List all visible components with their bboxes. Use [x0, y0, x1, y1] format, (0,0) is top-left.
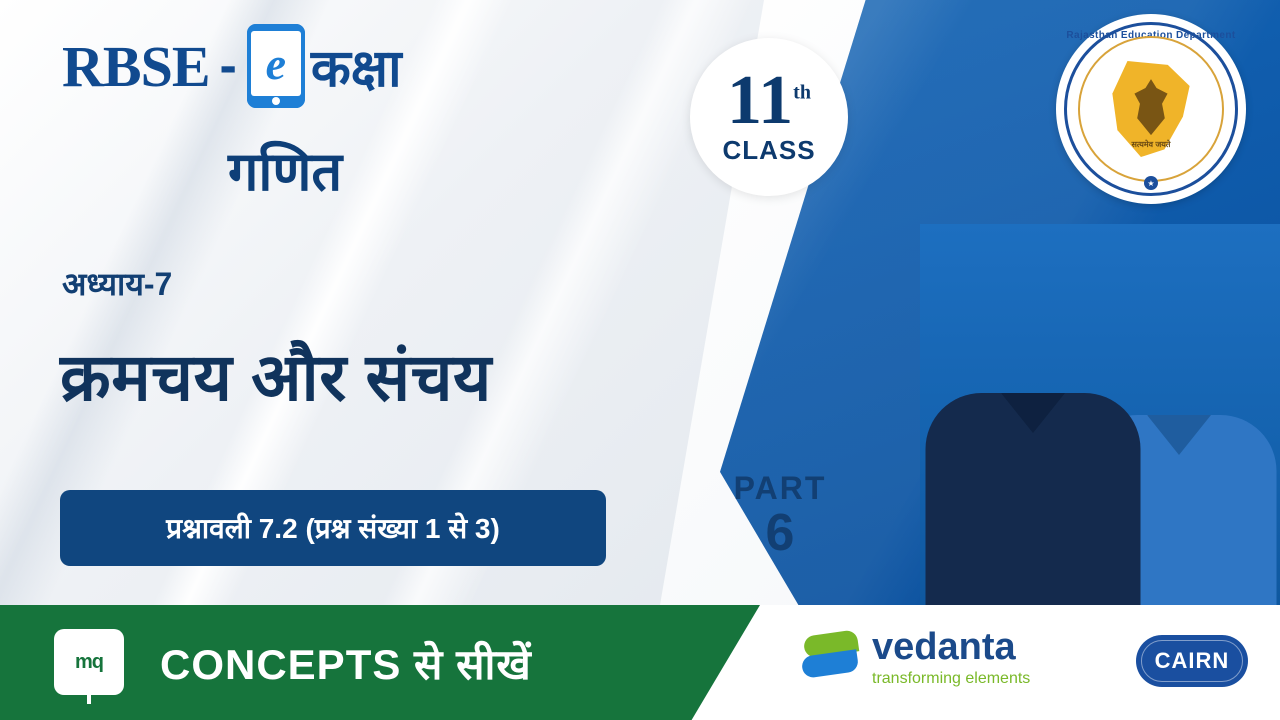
chapter-title: क्रमचय और संचय — [60, 330, 492, 420]
bottom-bar: mq CONCEPTS से सीखें vedanta transformin… — [0, 605, 1280, 720]
presenter-front-shirt — [926, 393, 1141, 605]
vedanta-logo: vedanta transforming elements — [800, 627, 1030, 689]
seal-bottom-badge-icon: ★ — [1144, 176, 1158, 190]
presenters-photo: mq mq — [920, 224, 1280, 605]
state-emblem-icon — [1128, 79, 1174, 135]
mq-logo-badge: mq — [54, 629, 124, 695]
tagline-hindi: से सीखें — [414, 641, 532, 688]
chapter-number: अध्याय-7 — [62, 262, 172, 305]
mq-logo-text: mq — [75, 651, 103, 674]
tablet-home-button-icon — [272, 97, 280, 105]
exercise-label: प्रश्नावली 7.2 (प्रश्न संख्या 1 से 3) — [166, 509, 500, 547]
class-number: 11th — [727, 68, 811, 135]
vedanta-name: vedanta — [872, 628, 1030, 666]
vedanta-wordmark: vedanta transforming elements — [872, 628, 1030, 688]
part-label: PART — [700, 470, 860, 507]
class-number-value: 11 — [727, 62, 793, 139]
subject-title: गणित — [228, 132, 342, 206]
presenter-front-collar — [1001, 393, 1065, 433]
class-number-ordinal: th — [793, 82, 811, 104]
tablet-icon: e — [247, 24, 305, 108]
class-label: CLASS — [722, 135, 815, 166]
mq-logo-stand — [87, 694, 91, 704]
seal-inner — [1078, 36, 1224, 182]
part-indicator: PART 6 — [700, 470, 860, 559]
exercise-badge: प्रश्नावली 7.2 (प्रश्न संख्या 1 से 3) — [60, 490, 606, 566]
tagline: CONCEPTS से सीखें — [160, 635, 532, 692]
cairn-logo: CAIRN — [1136, 635, 1248, 687]
brand-lockup: RBSE - e कक्षा — [62, 24, 402, 108]
rajasthan-education-department-seal: Rajasthan Education Department सत्यमेव ज… — [1056, 14, 1246, 204]
cairn-name: CAIRN — [1155, 648, 1230, 674]
tablet-screen: e — [251, 31, 301, 96]
brand-dash: - — [220, 36, 237, 96]
brand-kaksha-text: कक्षा — [311, 31, 402, 102]
title-card: RBSE - e कक्षा गणित 11th CLASS Rajasthan… — [0, 0, 1280, 720]
brand-rbse-text: RBSE — [62, 33, 210, 100]
e-letter: e — [266, 41, 286, 87]
presenter-back-collar — [1147, 415, 1211, 455]
seal-motto-text: सत्यमेव जयते — [1056, 139, 1246, 150]
vedanta-tagline: transforming elements — [872, 670, 1030, 688]
tagline-english: CONCEPTS — [160, 641, 401, 688]
vedanta-mark-icon — [800, 627, 862, 689]
part-number: 6 — [700, 507, 860, 559]
class-badge: 11th CLASS — [690, 38, 848, 196]
